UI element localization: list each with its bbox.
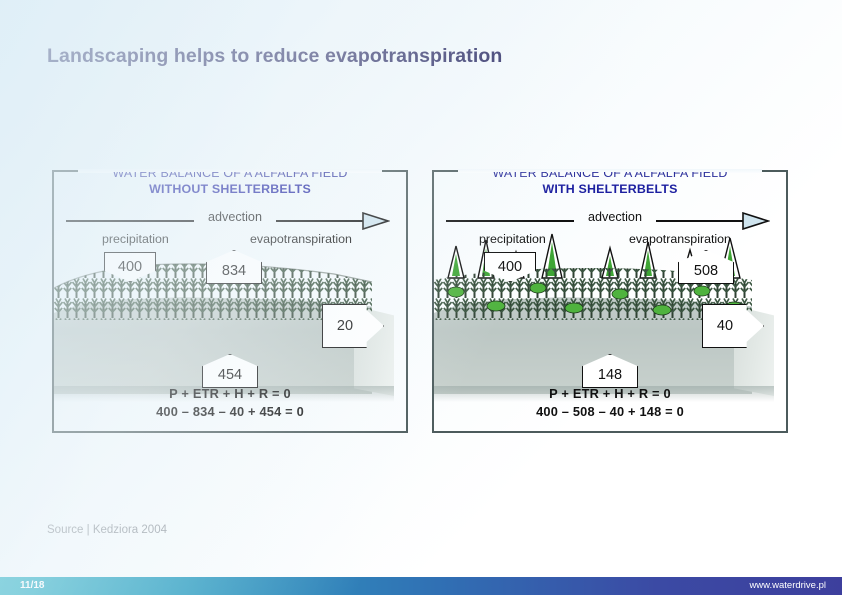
advection-line-right — [276, 220, 364, 222]
value-evapotranspiration: 834 — [206, 250, 262, 284]
panel-content: WATER BALANCE OF A ALFALFA FIELD WITH SH… — [434, 172, 786, 431]
panel-header-line2: WITHOUT SHELTERBELTS — [54, 182, 406, 196]
page-title: Landscaping helps to reduce evapotranspi… — [47, 45, 502, 68]
equation-symbolic: P + ETR + H + R = 0 — [54, 386, 406, 401]
advection-indicator: advection — [66, 210, 398, 230]
panel-with-shelterbelts: WATER BALANCE OF A ALFALFA FIELD WITH SH… — [430, 158, 790, 433]
advection-line-left — [446, 220, 574, 222]
panel-without-shelterbelts: WATER BALANCE OF A ALFALFA FIELD WITHOUT… — [50, 158, 410, 433]
advection-indicator: advection — [446, 210, 778, 230]
page-number: 11/18 — [20, 577, 44, 595]
advection-arrow-icon — [742, 212, 770, 230]
advection-line-left — [66, 220, 194, 222]
advection-label: advection — [194, 210, 276, 224]
caption-precipitation: precipitation — [102, 232, 169, 246]
advection-label: advection — [574, 210, 656, 224]
panel-content: WATER BALANCE OF A ALFALFA FIELD WITHOUT… — [54, 172, 406, 431]
equation-symbolic: P + ETR + H + R = 0 — [434, 386, 786, 401]
source-caption: Source | Kedziora 2004 — [47, 524, 167, 536]
figure-water-balance: WATER BALANCE OF A ALFALFA FIELD WITHOUT… — [50, 158, 798, 436]
slide-canvas: Landscaping helps to reduce evapotranspi… — [0, 0, 842, 595]
panel-header-line2: WITH SHELTERBELTS — [434, 182, 786, 196]
footer-bar: 11/18 www.waterdrive.pl — [0, 577, 842, 595]
footer-url[interactable]: www.waterdrive.pl — [749, 577, 826, 595]
caption-evapotranspiration: evapotranspiration — [250, 232, 352, 246]
advection-line-right — [656, 220, 744, 222]
equation-numeric: 400 – 834 – 40 + 454 = 0 — [54, 404, 406, 419]
panel-header-line1: WATER BALANCE OF A ALFALFA FIELD — [54, 172, 406, 180]
panel-header-line1: WATER BALANCE OF A ALFALFA FIELD — [434, 172, 786, 180]
equation-numeric: 400 – 508 – 40 + 148 = 0 — [434, 404, 786, 419]
advection-arrow-icon — [362, 212, 390, 230]
